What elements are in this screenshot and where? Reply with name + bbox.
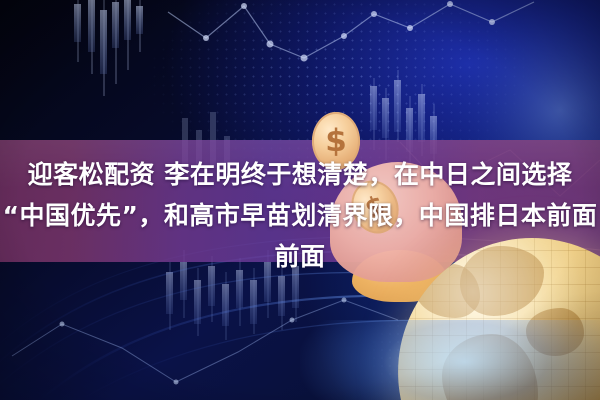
candlestick-group-top bbox=[74, 0, 143, 96]
headline-line-2: “中国优先”，和高市早苗划清界限，中国排日本前面 bbox=[3, 195, 598, 236]
headline-text-block: 迎客松配资 李在明终于想清楚，在中日之间选择 “中国优先”，和高市早苗划清界限，… bbox=[0, 140, 600, 262]
trend-polyline-bottom-nodes bbox=[60, 298, 347, 385]
headline-line-3: 前面 bbox=[274, 236, 325, 277]
headline-line-1: 迎客松配资 李在明终于想清楚，在中日之间选择 bbox=[28, 154, 573, 195]
news-thumbnail-image: $ $ 迎客松配资 李在明终于想清楚，在中日之间选择 “中国优先”，和高市早苗划… bbox=[0, 0, 600, 400]
